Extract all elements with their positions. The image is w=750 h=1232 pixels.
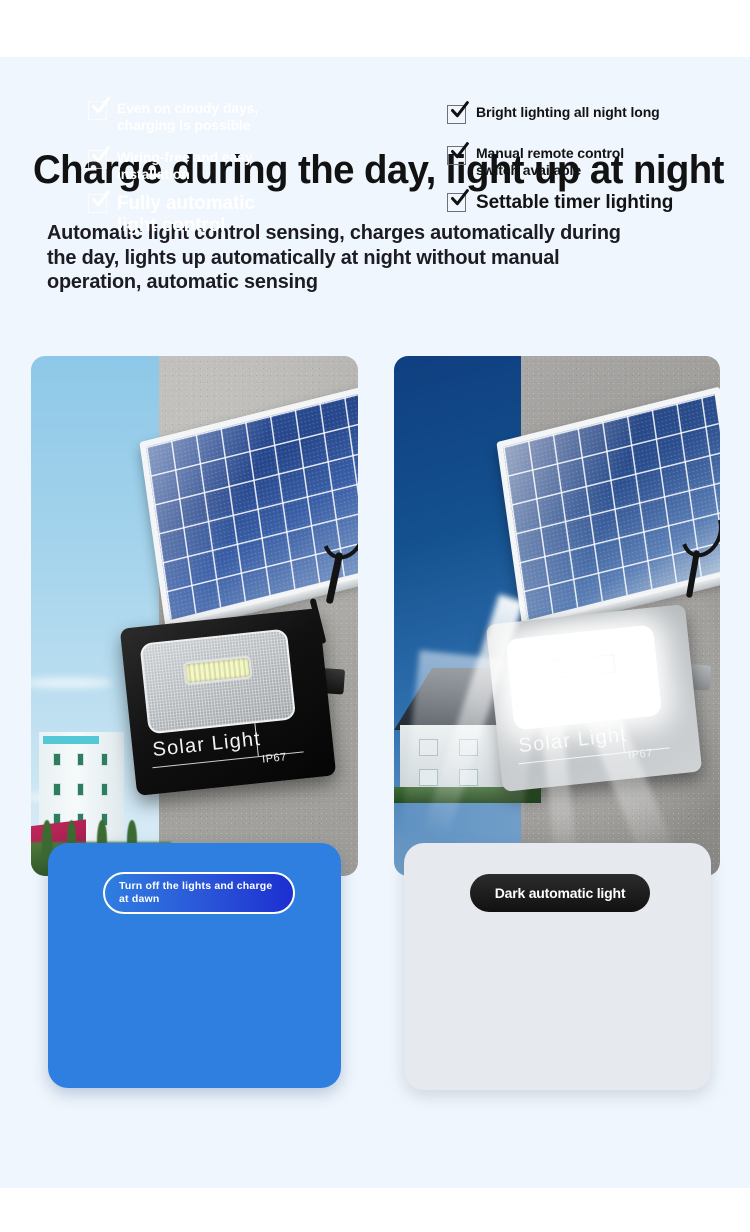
house-window bbox=[459, 739, 478, 756]
checkmark-icon bbox=[88, 150, 107, 169]
ip-rating-label: IP67 bbox=[262, 752, 288, 767]
house-window bbox=[459, 769, 478, 786]
check-glyph bbox=[449, 188, 470, 209]
check-glyph bbox=[90, 96, 111, 117]
check-glyph bbox=[90, 189, 111, 210]
checkmark-icon bbox=[447, 105, 466, 124]
nighttime-photo: Solar Light IP67 bbox=[394, 356, 720, 876]
daytime-feature-item: Wiring-free and easy installation bbox=[88, 149, 287, 183]
led-array bbox=[548, 651, 618, 681]
floodlight-reflector bbox=[139, 628, 296, 734]
building-window bbox=[53, 783, 61, 796]
nighttime-badge: Dark automatic light bbox=[470, 874, 650, 912]
checkmark-icon bbox=[447, 193, 466, 212]
floodlight-unit: Solar Light IP67 bbox=[486, 604, 702, 792]
nighttime-feature-item: Bright lighting all night long bbox=[447, 104, 708, 124]
building-window bbox=[101, 783, 109, 796]
check-glyph bbox=[90, 145, 111, 166]
nighttime-feature-card: Dark automatic light bbox=[404, 843, 711, 1090]
floodlight-reflector bbox=[505, 624, 662, 730]
daytime-feature-text: Wiring-free and easy installation bbox=[117, 149, 287, 183]
checkmark-icon bbox=[447, 146, 466, 165]
checkmark-icon bbox=[88, 194, 107, 213]
building-window bbox=[101, 753, 109, 766]
nighttime-feature-text: Manual remote control switch available bbox=[476, 145, 666, 179]
check-glyph bbox=[449, 100, 470, 121]
night-scene: Solar Light IP67 bbox=[394, 356, 720, 876]
daytime-feature-item: Even on cloudy days, charging is possibl… bbox=[88, 100, 292, 134]
daytime-badge-label: Turn off the lights and charge at dawn bbox=[119, 880, 279, 906]
cloud-wisp bbox=[31, 678, 113, 688]
ip-rating-label: IP67 bbox=[628, 748, 654, 763]
nighttime-badge-label: Dark automatic light bbox=[495, 885, 626, 901]
daytime-photo: Solar Light IP67 bbox=[31, 356, 358, 876]
house-window bbox=[419, 769, 438, 786]
house-window bbox=[419, 739, 438, 756]
building-window bbox=[77, 753, 85, 766]
nighttime-feature-text: Settable timer lighting bbox=[476, 192, 712, 214]
daytime-feature-text: Even on cloudy days, charging is possibl… bbox=[117, 100, 292, 134]
nighttime-feature-item: Settable timer lighting bbox=[447, 192, 712, 214]
daytime-feature-text: Fully automatic light control bbox=[117, 193, 295, 237]
checkmark-icon bbox=[88, 101, 107, 120]
product-brand-label: Solar Light bbox=[517, 723, 628, 757]
nighttime-feature-item: Manual remote control switch available bbox=[447, 145, 666, 179]
product-brand-label: Solar Light bbox=[151, 727, 262, 761]
led-array bbox=[182, 655, 252, 685]
daytime-feature-card: Turn off the lights and charge at dawn bbox=[48, 843, 341, 1088]
floodlight-housing: Solar Light IP67 bbox=[120, 608, 336, 796]
daytime-feature-item: Fully automatic light control bbox=[88, 193, 295, 237]
floodlight-unit: Solar Light IP67 bbox=[120, 608, 336, 796]
building-window bbox=[77, 783, 85, 796]
building-roofline bbox=[43, 736, 99, 744]
day-scene: Solar Light IP67 bbox=[31, 356, 358, 876]
daytime-badge: Turn off the lights and charge at dawn bbox=[103, 872, 295, 914]
nighttime-feature-text: Bright lighting all night long bbox=[476, 104, 708, 121]
floodlight-housing: Solar Light IP67 bbox=[486, 604, 702, 792]
product-feature-page: Charge during the day, light up at night… bbox=[0, 0, 750, 1232]
building-window bbox=[53, 753, 61, 766]
check-glyph bbox=[449, 141, 470, 162]
